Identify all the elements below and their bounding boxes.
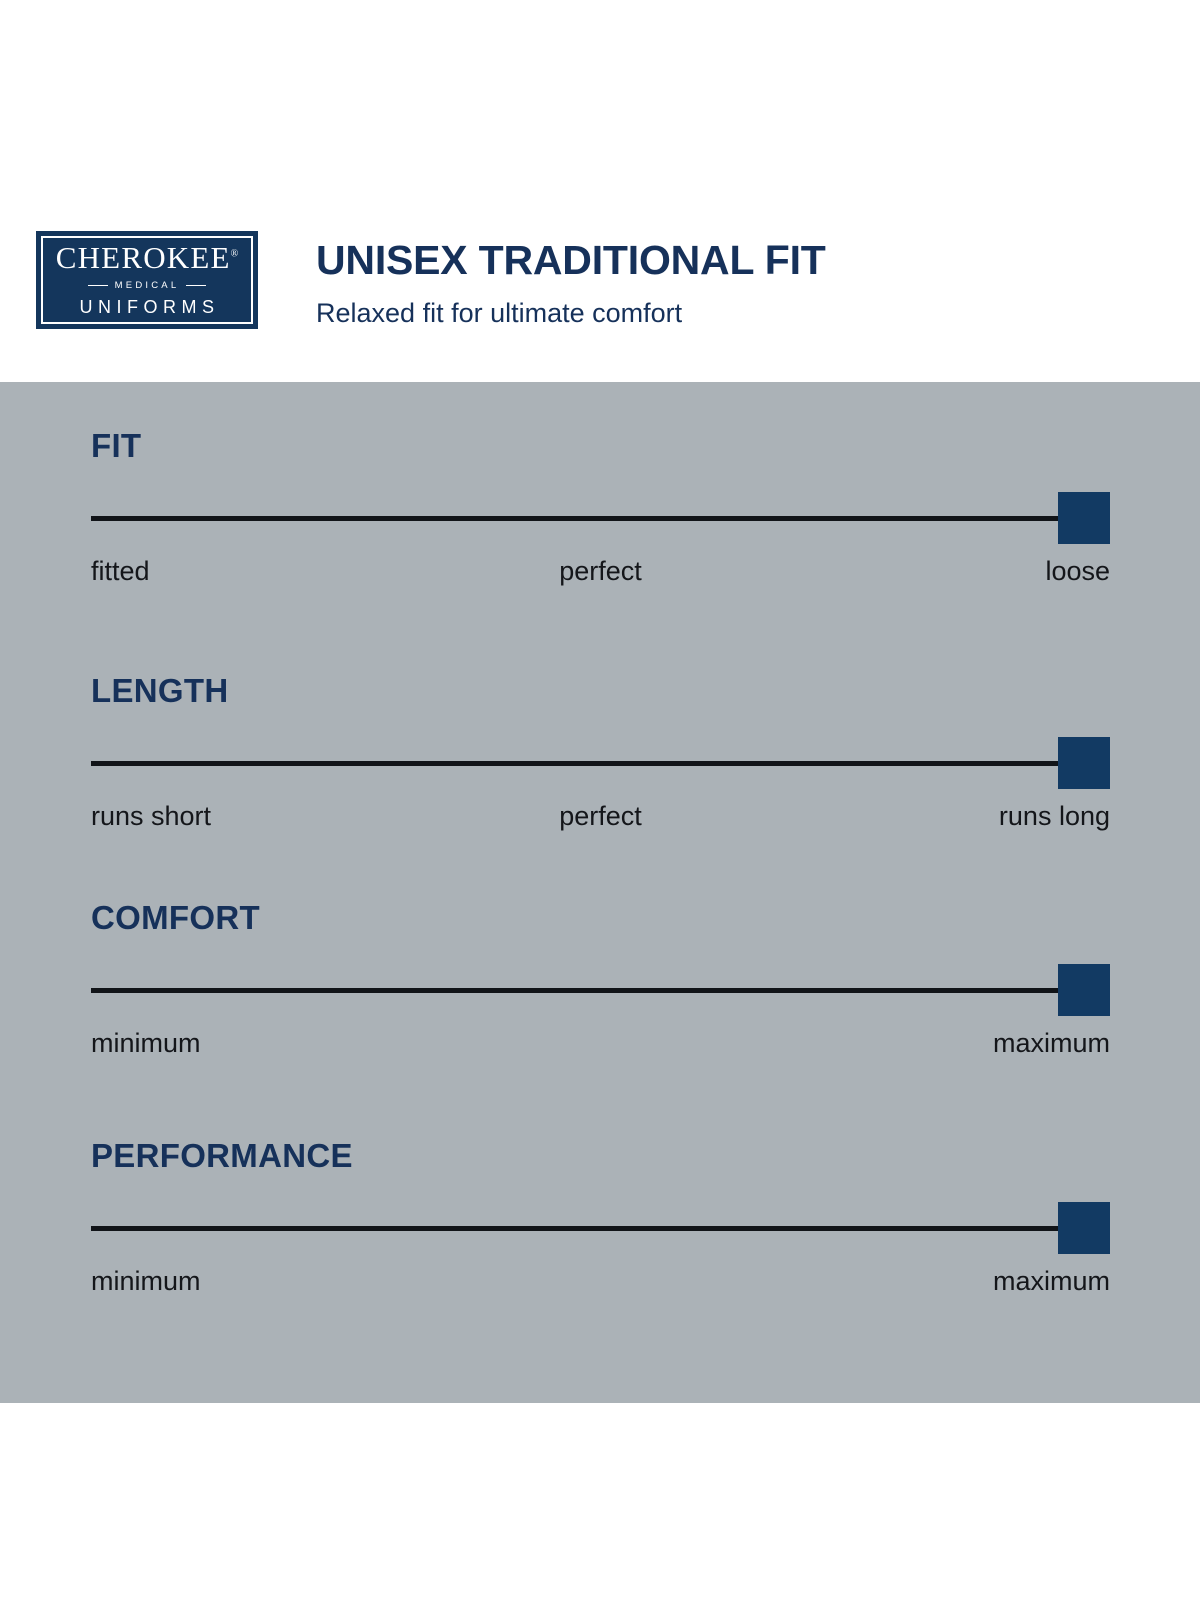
fit-guide-page: CHEROKEE® MEDICAL UNIFORMS UNISEX TRADIT… <box>0 0 1200 1600</box>
page-subtitle: Relaxed fit for ultimate comfort <box>316 300 826 327</box>
slider-handle-length[interactable] <box>1058 737 1110 789</box>
logo-rule-right-icon <box>186 285 206 287</box>
page-title: UNISEX TRADITIONAL FIT <box>316 240 826 281</box>
scale-label-left-fit: fitted <box>91 556 150 587</box>
logo-uniforms-text: UNIFORMS <box>75 297 220 318</box>
scale-label-left-performance: minimum <box>91 1266 201 1297</box>
logo-medical-text: MEDICAL <box>115 280 180 291</box>
slider-track-performance <box>91 1226 1110 1231</box>
logo-inner-border: CHEROKEE® MEDICAL UNIFORMS <box>41 236 253 324</box>
slider-handle-performance[interactable] <box>1058 1202 1110 1254</box>
metric-length: LENGTH runs short perfect runs long <box>91 674 1110 835</box>
slider-length[interactable] <box>91 737 1110 789</box>
slider-track-length <box>91 761 1110 766</box>
cherokee-logo: CHEROKEE® MEDICAL UNIFORMS <box>36 231 258 329</box>
slider-track-comfort <box>91 988 1110 993</box>
scale-labels-fit: fitted perfect loose <box>91 556 1110 590</box>
slider-handle-fit[interactable] <box>1058 492 1110 544</box>
slider-comfort[interactable] <box>91 964 1110 1016</box>
scale-label-right-length: runs long <box>999 801 1110 832</box>
metric-title-comfort: COMFORT <box>91 901 1110 934</box>
logo-medical-row: MEDICAL <box>43 280 251 291</box>
scale-label-left-comfort: minimum <box>91 1028 201 1059</box>
scale-labels-length: runs short perfect runs long <box>91 801 1110 835</box>
page-header: CHEROKEE® MEDICAL UNIFORMS UNISEX TRADIT… <box>0 0 1200 382</box>
metric-title-performance: PERFORMANCE <box>91 1139 1110 1172</box>
registered-mark-icon: ® <box>231 249 239 260</box>
scale-label-mid-length: perfect <box>559 801 642 832</box>
scale-label-right-comfort: maximum <box>993 1028 1110 1059</box>
metric-title-fit: FIT <box>91 429 1110 462</box>
metric-fit: FIT fitted perfect loose <box>91 429 1110 590</box>
slider-track-fit <box>91 516 1110 521</box>
scale-label-right-fit: loose <box>1045 556 1110 587</box>
metric-title-length: LENGTH <box>91 674 1110 707</box>
scale-labels-performance: minimum maximum <box>91 1266 1110 1300</box>
scale-label-mid-fit: perfect <box>559 556 642 587</box>
logo-brand-name: CHEROKEE® <box>56 242 239 273</box>
metric-performance: PERFORMANCE minimum maximum <box>91 1139 1110 1300</box>
slider-handle-comfort[interactable] <box>1058 964 1110 1016</box>
scale-label-right-performance: maximum <box>993 1266 1110 1297</box>
fit-metrics-panel: FIT fitted perfect loose LENGTH runs sho… <box>0 382 1200 1403</box>
scale-label-left-length: runs short <box>91 801 211 832</box>
header-title-block: UNISEX TRADITIONAL FIT Relaxed fit for u… <box>316 240 826 327</box>
slider-performance[interactable] <box>91 1202 1110 1254</box>
scale-labels-comfort: minimum maximum <box>91 1028 1110 1062</box>
slider-fit[interactable] <box>91 492 1110 544</box>
metric-comfort: COMFORT minimum maximum <box>91 901 1110 1062</box>
logo-brand-text: CHEROKEE <box>56 240 231 275</box>
logo-rule-left-icon <box>88 285 108 287</box>
